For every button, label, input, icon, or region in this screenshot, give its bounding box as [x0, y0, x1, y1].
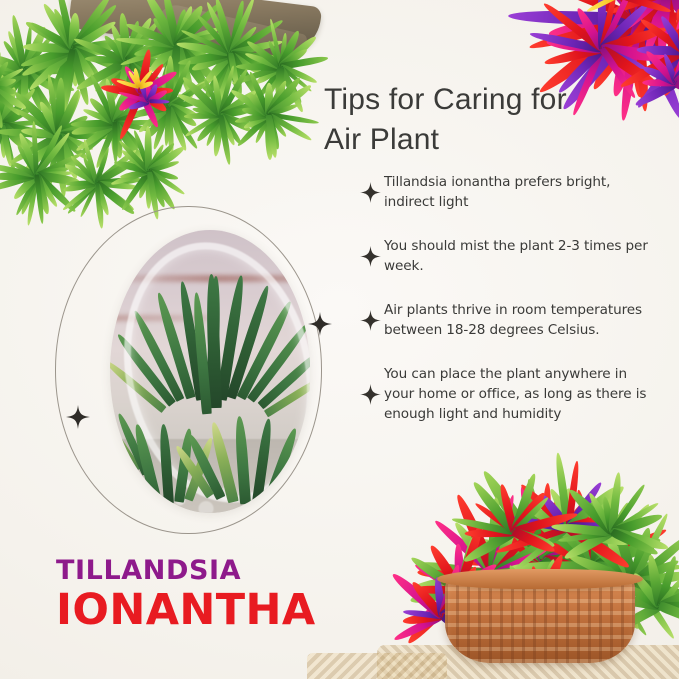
species-label: IONANTHA — [56, 587, 316, 633]
tip-item: You can place the plant anywhere in your… — [356, 364, 656, 424]
genus-label: TILLANDSIA — [56, 556, 316, 586]
tip-item: Air plants thrive in room temperatures b… — [356, 300, 656, 340]
page-title-line-2: Air Plant — [324, 120, 654, 160]
air-plant-photo — [110, 230, 310, 513]
species-title: TILLANDSIA IONANTHA — [56, 556, 316, 633]
tip-text: Air plants thrive in room temperatures b… — [384, 300, 656, 340]
tip-text: You should mist the plant 2-3 times per … — [384, 236, 656, 276]
tip-item: You should mist the plant 2-3 times per … — [356, 236, 656, 276]
photo-accent-star-right — [308, 312, 332, 336]
infographic-canvas: Tips for Caring for Air Plant Tillandsia… — [0, 0, 679, 679]
tip-text: You can place the plant anywhere in your… — [384, 364, 656, 424]
tip-text: Tillandsia ionantha prefers bright, indi… — [384, 172, 656, 212]
four-point-star-icon — [356, 310, 384, 331]
photo-accent-star-left — [66, 405, 90, 429]
page-title-line-1: Tips for Caring for — [324, 80, 654, 120]
four-point-star-icon — [356, 246, 384, 267]
four-point-star-icon — [356, 384, 384, 405]
tip-item: Tillandsia ionantha prefers bright, indi… — [356, 172, 656, 212]
page-title: Tips for Caring for Air Plant — [324, 80, 654, 160]
tips-list: Tillandsia ionantha prefers bright, indi… — [356, 172, 656, 448]
four-point-star-icon — [356, 182, 384, 203]
